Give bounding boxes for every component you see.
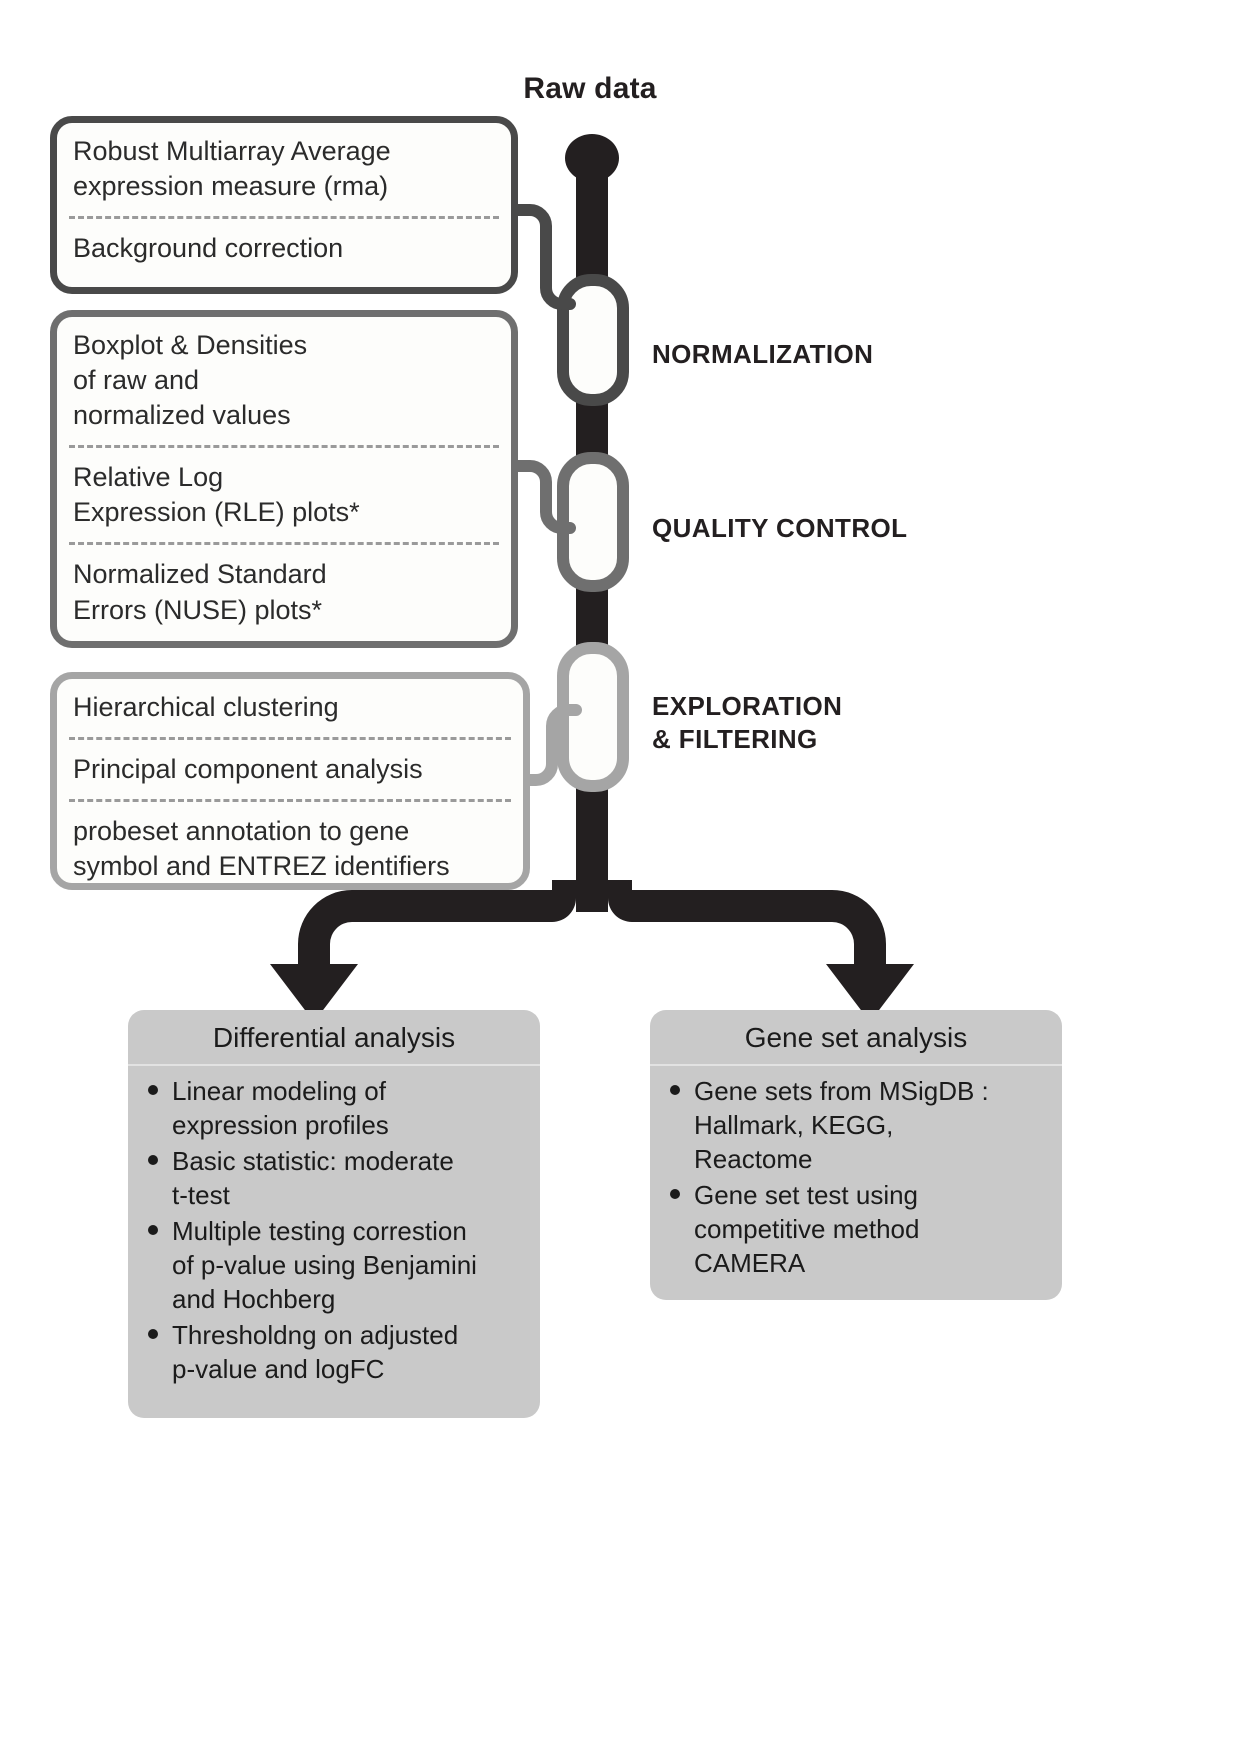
- list-item-text: Basic statistic: moderate t-test: [172, 1146, 454, 1210]
- stage-segment: Relative Log Expression (RLE) plots*: [57, 455, 511, 535]
- segment-divider: [69, 799, 511, 802]
- stage-segment-text: Hierarchical clustering: [73, 690, 509, 725]
- stage-box-exploration-filtering: Hierarchical clustering Principal compon…: [50, 672, 530, 890]
- stage-segment-text: Robust Multiarray Average expression mea…: [73, 134, 497, 204]
- stage-segment: Background correction: [57, 226, 511, 271]
- result-card-list: Linear modeling of expression profiles B…: [128, 1066, 540, 1400]
- stage-segment-text: Normalized Standard Errors (NUSE) plots*: [73, 557, 497, 627]
- stage-segment-text: Boxplot & Densities of raw and normalize…: [73, 328, 497, 433]
- list-item: Gene set test using competitive method C…: [664, 1178, 1050, 1280]
- list-item: Multiple testing correstion of p-value u…: [142, 1214, 528, 1316]
- stage-segment-text: Principal component analysis: [73, 752, 509, 787]
- list-item: Gene sets from MSigDB : Hallmark, KEGG, …: [664, 1074, 1050, 1176]
- segment-divider: [69, 445, 499, 448]
- stage-capsule-normalization: [563, 280, 623, 400]
- bullet-icon: [148, 1085, 158, 1095]
- list-item-text: Thresholdng on adjusted p-value and logF…: [172, 1320, 458, 1384]
- stage-box-normalization: Robust Multiarray Average expression mea…: [50, 116, 518, 294]
- stage-segment-text: Relative Log Expression (RLE) plots*: [73, 460, 497, 530]
- list-item: Thresholdng on adjusted p-value and logF…: [142, 1318, 528, 1386]
- raw-data-title: Raw data: [460, 72, 720, 106]
- stage-segment: probeset annotation to gene symbol and E…: [57, 809, 523, 889]
- stage-label-quality-control: QUALITY CONTROL: [652, 512, 907, 545]
- result-card-title: Differential analysis: [128, 1010, 540, 1066]
- stage-segment-text: probeset annotation to gene symbol and E…: [73, 814, 509, 884]
- list-item-text: Linear modeling of expression profiles: [172, 1076, 389, 1140]
- stage-segment: Hierarchical clustering: [57, 685, 523, 730]
- list-item-text: Gene set test using competitive method C…: [694, 1180, 919, 1278]
- stage-label-normalization: NORMALIZATION: [652, 338, 873, 371]
- bullet-icon: [148, 1155, 158, 1165]
- stage-segment: Principal component analysis: [57, 747, 523, 792]
- diagram-canvas: Raw data Robust Multiarray Average expre…: [0, 0, 1240, 1753]
- list-item-text: Gene sets from MSigDB : Hallmark, KEGG, …: [694, 1076, 989, 1174]
- list-item: Basic statistic: moderate t-test: [142, 1144, 528, 1212]
- bullet-icon: [670, 1189, 680, 1199]
- stage-capsule-exploration: [563, 648, 623, 786]
- stage-segment: Normalized Standard Errors (NUSE) plots*: [57, 552, 511, 632]
- segment-divider: [69, 542, 499, 545]
- bullet-icon: [670, 1085, 680, 1095]
- list-item-text: Multiple testing correstion of p-value u…: [172, 1216, 477, 1314]
- result-card-gene-set-analysis: Gene set analysis Gene sets from MSigDB …: [650, 1010, 1062, 1300]
- segment-divider: [69, 216, 499, 219]
- stage-capsule-quality: [563, 458, 623, 586]
- segment-divider: [69, 737, 511, 740]
- result-card-list: Gene sets from MSigDB : Hallmark, KEGG, …: [650, 1066, 1062, 1294]
- bullet-icon: [148, 1329, 158, 1339]
- result-card-differential-analysis: Differential analysis Linear modeling of…: [128, 1010, 540, 1418]
- stage-label-exploration-filtering: EXPLORATION & FILTERING: [652, 690, 842, 757]
- stage-segment-text: Background correction: [73, 231, 497, 266]
- list-item: Linear modeling of expression profiles: [142, 1074, 528, 1142]
- bullet-icon: [148, 1225, 158, 1235]
- stage-segment: Boxplot & Densities of raw and normalize…: [57, 323, 511, 438]
- stage-segment: Robust Multiarray Average expression mea…: [57, 129, 511, 209]
- stage-box-quality-control: Boxplot & Densities of raw and normalize…: [50, 310, 518, 648]
- result-card-title: Gene set analysis: [650, 1010, 1062, 1066]
- connector-normalization: [512, 210, 570, 304]
